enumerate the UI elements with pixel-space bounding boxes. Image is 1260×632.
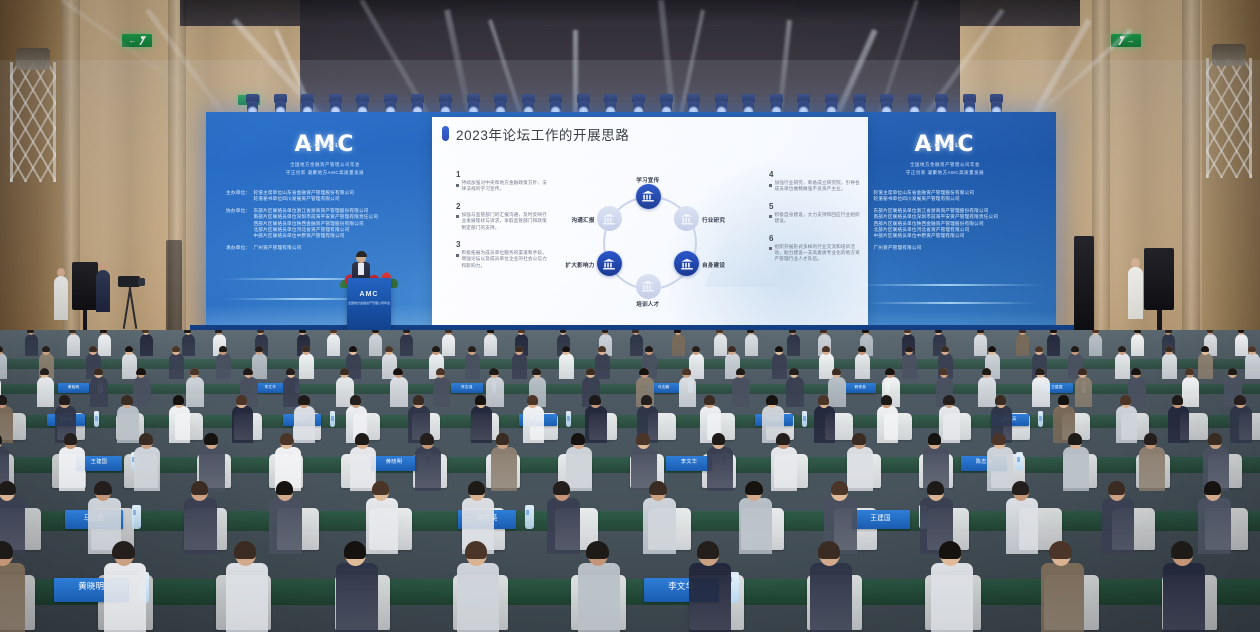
person-hair (586, 541, 608, 559)
person-hair (641, 395, 652, 404)
person-hair (927, 481, 944, 495)
camera-rig (110, 270, 150, 332)
person-hair (674, 330, 681, 333)
audience-member (745, 330, 758, 358)
person-hair (1019, 330, 1026, 333)
banner-headline-1: 全国地方金融资产管理公司年会 (212, 162, 438, 168)
person-body (269, 498, 302, 553)
audience-member (457, 542, 499, 632)
exit-arrow-icon: ← (129, 37, 137, 45)
person-body (1245, 353, 1260, 379)
person-hair (236, 395, 247, 404)
person-hair (881, 395, 892, 404)
audience-member (336, 542, 378, 632)
name-placard: 李文华 (255, 383, 286, 393)
audience-member (1006, 482, 1039, 558)
audience-member (37, 368, 55, 409)
water-bottle (802, 411, 808, 427)
person-hair (403, 330, 410, 333)
bullet-item: 加强与监管部门的汇报沟通，及时反映行业发展现状与诉求，争取监管部门和政策制定部门… (456, 212, 548, 231)
audience-member (216, 346, 231, 381)
audience-member (771, 434, 797, 494)
person-hair (775, 346, 783, 352)
person-hair (995, 395, 1006, 404)
audience-member (679, 368, 697, 409)
person-hair (1171, 541, 1193, 559)
person-body (1198, 353, 1213, 379)
credit-values: 广州资产管理有限公司 (873, 245, 921, 251)
person-hair (1228, 368, 1237, 376)
audience-member (491, 434, 517, 494)
audience-member (226, 542, 268, 632)
person-hair (1050, 330, 1057, 333)
credit-values: 东部片区联络员单位浙江省浙商资产管理股份有限公司南部片区联络员单位深圳市前海平安… (253, 208, 378, 240)
water-bottle (1016, 452, 1023, 471)
bullet-marker-icon (456, 254, 459, 257)
person-hair (818, 395, 829, 404)
person-hair (1049, 541, 1071, 559)
person-hair (0, 541, 13, 559)
person-body (491, 447, 517, 491)
person-hair (1165, 346, 1173, 352)
cycle-node-label: 扩大影响力 (566, 261, 595, 269)
audience-member (1089, 330, 1102, 358)
person-body (523, 406, 544, 442)
person-hair (219, 346, 227, 352)
slide-title: 2023年论坛工作的开展思路 (456, 124, 629, 144)
audience-member (0, 346, 7, 381)
person-hair (1035, 346, 1043, 352)
slide-bullets-right: 4加强行业研究，筹备成立研究院，引导各成员单位做精做强不良资产主业。5积极自身建… (769, 170, 861, 272)
credit-block: 主办单位：轮值主席单位山东省金融资产管理股份有限公司轮值秘书单位四川发展资产管理… (846, 190, 1044, 203)
person-body (67, 334, 80, 356)
audience-member (471, 396, 492, 445)
person-hair (831, 481, 848, 495)
person-hair (885, 368, 894, 376)
audience-member (855, 346, 870, 381)
podium-logo: AMC (360, 291, 379, 298)
person-body (771, 447, 797, 491)
audience-member (140, 330, 153, 358)
person-hair (704, 395, 715, 404)
exit-sign-left: ← (122, 34, 152, 47)
person-body (134, 447, 160, 491)
person-hair (191, 481, 208, 495)
name-placard: 黄晓明 (58, 383, 89, 393)
audience-member (25, 330, 38, 358)
speaker-hair (356, 251, 367, 257)
bullet-number: 3 (456, 240, 548, 249)
person-hair (298, 395, 309, 404)
exit-sign-right: → (1111, 34, 1141, 47)
bullet-marker-icon (769, 247, 772, 250)
name-placard-text: 王建国 (852, 512, 910, 522)
person-body (471, 406, 492, 442)
person-body (1102, 498, 1135, 553)
person-body (169, 353, 184, 379)
person-hair (349, 346, 357, 352)
person-hair (1134, 330, 1141, 333)
audience-member (442, 330, 455, 358)
audience-member (1162, 346, 1177, 381)
person-hair (789, 330, 796, 333)
audience-member (810, 542, 852, 632)
bullet-item: 积极拓展为成员单位服务的渠道和手段，增强论坛以及成员单位企业的社会公信力和影响力… (456, 250, 548, 269)
audience-member (1116, 396, 1137, 445)
name-placard: 黄晓明 (371, 456, 417, 471)
cycle-node-4 (636, 274, 661, 299)
person-body (855, 353, 870, 379)
person-hair (745, 481, 762, 495)
water-bottle (525, 505, 534, 529)
audience-member (169, 346, 184, 381)
person-body (810, 563, 852, 632)
person-hair (982, 368, 991, 376)
person-hair (340, 368, 349, 376)
audience-member (327, 330, 340, 358)
lighting-truss-left (10, 62, 56, 182)
person-hair (518, 330, 525, 333)
person-hair (1201, 346, 1209, 352)
cycle-node-label: 自身建设 (702, 261, 725, 269)
person-hair (42, 346, 50, 352)
credit-value: 中部片区联络员单位中原资产管理有限公司 (873, 233, 998, 239)
person-body (1006, 498, 1039, 553)
person-hair (204, 433, 218, 444)
banner-credits-left: 主办单位：轮值主席单位山东省金融资产管理股份有限公司轮值秘书单位四川发展资产管理… (212, 190, 438, 251)
bullet-number: 2 (456, 202, 548, 211)
person-body (400, 334, 413, 356)
audience-member (1245, 346, 1260, 381)
person-hair (142, 330, 149, 333)
audience-member (931, 542, 973, 632)
person-hair (257, 330, 264, 333)
slide-bullets-left: 1持续加强对中央和地方金融政策方针、法律法规的学习宣传。2加强与监管部门的汇报沟… (456, 170, 548, 278)
person-hair (59, 395, 70, 404)
credit-value: 中部片区联络员单位中原资产管理有限公司 (253, 233, 378, 239)
person-hair (697, 541, 719, 559)
person-hair (682, 368, 691, 376)
audience-member (672, 330, 685, 358)
banner-left: AMC LOCAL 全国地方金融资产管理公司年会 守正创新 凝聚地方AMC高质量… (212, 118, 438, 334)
person-hair (173, 395, 184, 404)
audience-member (689, 542, 731, 632)
bullet-number: 1 (456, 170, 548, 179)
bullet-text: 积极自身建设，大力支持和回应行业组织建设。 (775, 212, 862, 225)
person-hair (589, 395, 600, 404)
credit-values: 广州资产管理有限公司 (253, 245, 301, 251)
bullet-text: 组织开展形式多样的行业交流和培训活动，助力建设一支高素质专业化的地方资产管理行业… (775, 244, 862, 263)
person-hair (121, 395, 132, 404)
audience-member (390, 368, 408, 409)
person-hair (100, 330, 107, 333)
person-hair (560, 330, 567, 333)
person-hair (234, 541, 256, 559)
running-person-icon (1118, 36, 1125, 45)
audience-member (90, 368, 108, 409)
person-hair (184, 330, 191, 333)
person-hair (928, 433, 942, 444)
podium: AMC 全国地方金融资产管理公司年会 (347, 278, 391, 330)
person-hair (862, 330, 869, 333)
person-body (442, 334, 455, 356)
cycle-node-5 (597, 251, 622, 276)
person-body (457, 563, 499, 632)
person-hair (1035, 368, 1044, 376)
person-hair (598, 346, 606, 352)
lighting-truss-right (1206, 58, 1252, 178)
audience-member (369, 330, 382, 358)
audience-member (787, 330, 800, 358)
audience-member (814, 396, 835, 445)
person-body (672, 334, 685, 356)
person-body (1041, 563, 1083, 632)
person-body (232, 406, 253, 442)
bullet-item: 加强行业研究，筹备成立研究院，引导各成员单位做精做强不良资产主业。 (769, 180, 861, 193)
credit-block: 承办单位：广州资产管理有限公司 (846, 245, 1044, 251)
water-bottle (1038, 411, 1044, 427)
audience-member (67, 330, 80, 358)
person-body (931, 563, 973, 632)
audience-member (1230, 396, 1251, 445)
person-body (679, 377, 697, 407)
person-body (327, 334, 340, 356)
audience-member (707, 434, 733, 494)
person-hair (1071, 346, 1079, 352)
audience-member (465, 346, 480, 381)
person-hair (190, 368, 199, 376)
cycle-node-2 (674, 206, 699, 231)
person-hair (1208, 433, 1222, 444)
person-body (299, 353, 314, 379)
person-body (732, 377, 750, 407)
credit-value: 广州资产管理有限公司 (873, 245, 921, 251)
audience-member (772, 346, 787, 381)
exit-arrow-icon: → (1127, 37, 1135, 45)
person-hair (988, 346, 996, 352)
person-hair (413, 395, 424, 404)
person-body (336, 563, 378, 632)
credit-values: 轮值主席单位山东省金融资产管理股份有限公司轮值秘书单位四川发展资产管理有限公司 (253, 190, 354, 203)
person-body (512, 353, 527, 379)
water-bottle (132, 505, 141, 529)
person-hair (747, 330, 754, 333)
stage-drape-right (1074, 236, 1094, 332)
person-hair (941, 346, 949, 352)
credit-values: 东部片区联络员单位浙江省浙商资产管理股份有限公司南部片区联络员单位深圳市前海平安… (873, 208, 998, 240)
audience-member (1041, 542, 1083, 632)
person-body (1230, 406, 1251, 442)
person-body (216, 353, 231, 379)
camera-lens (138, 278, 145, 286)
person-hair (445, 330, 452, 333)
person-hair (286, 368, 295, 376)
person-hair (904, 330, 911, 333)
name-placard: 陈志强 (451, 383, 482, 393)
person-hair (280, 433, 294, 444)
bullet-marker-icon (456, 184, 459, 187)
bank-institution-icon (602, 212, 616, 226)
person-hair (1131, 368, 1140, 376)
person-body (745, 334, 758, 356)
bullet-marker-icon (769, 215, 772, 218)
audience-member (269, 482, 302, 558)
bullet-item: 持续加强对中央和地方金融政策方针、法律法规的学习宣传。 (456, 180, 548, 193)
cycle-diagram: 学习宣传行业研究自身建设培训人才扩大影响力沟通汇报 (582, 175, 714, 307)
person-hair (649, 481, 666, 495)
speaker-shirt (358, 263, 364, 275)
cycle-node-1 (636, 184, 661, 209)
bullet-item: 组织开展形式多样的行业交流和培训活动，助力建设一支高素质专业化的地方资产管理行业… (769, 244, 861, 263)
person-hair (586, 368, 595, 376)
audience-member (184, 482, 217, 558)
podium-subtitle: 全国地方金融资产管理公司年会 (348, 301, 390, 305)
person-hair (832, 368, 841, 376)
person-hair (40, 368, 49, 376)
amc-local-text: LOCAL (929, 143, 962, 149)
person-body (1131, 334, 1144, 356)
person-hair (1108, 481, 1125, 495)
audience-member (1139, 434, 1165, 494)
audience-member (512, 346, 527, 381)
cycle-node-label: 行业研究 (702, 216, 725, 224)
audience-member (643, 482, 676, 558)
person-hair (571, 433, 585, 444)
audience-member (739, 482, 772, 558)
water-bottle (330, 411, 336, 427)
person-hair (255, 346, 263, 352)
person-body (786, 377, 804, 407)
person-hair (393, 368, 402, 376)
credit-block: 承办单位：广州资产管理有限公司 (226, 245, 424, 251)
person-body (1168, 406, 1189, 442)
person-hair (468, 481, 485, 495)
person-hair (355, 433, 369, 444)
person-hair (692, 346, 700, 352)
person-body (369, 334, 382, 356)
credit-block: 协办单位：东部片区联络员单位浙江省浙商资产管理股份有限公司南部片区联络员单位深圳… (226, 208, 424, 240)
person-hair (125, 346, 133, 352)
pa-speaker-right (1144, 248, 1174, 310)
person-hair (645, 346, 653, 352)
person-body (140, 334, 153, 356)
person-hair (1144, 433, 1158, 444)
wall-column (1092, 0, 1110, 335)
person-body (1128, 267, 1143, 319)
person-hair (943, 395, 954, 404)
person-body (226, 563, 268, 632)
person-hair (818, 541, 840, 559)
person-hair (1092, 330, 1099, 333)
credit-key: 协办单位： (226, 208, 250, 240)
bank-institution-icon (641, 189, 655, 203)
person-hair (766, 395, 777, 404)
person-hair (475, 395, 486, 404)
cycle-node-label: 沟通汇报 (571, 216, 594, 224)
cycle-node-label: 学习宣传 (636, 176, 659, 184)
person-hair (215, 330, 222, 333)
person-hair (728, 346, 736, 352)
audience-member (902, 346, 917, 381)
person-hair (420, 433, 434, 444)
bullet-item: 积极自身建设，大力支持和回应行业组织建设。 (769, 212, 861, 225)
running-person-icon (139, 36, 146, 45)
person-hair (1078, 368, 1087, 376)
person-hair (939, 368, 948, 376)
person-body (1016, 334, 1029, 356)
audience-member (1047, 330, 1060, 358)
audience-member (559, 346, 574, 381)
person-hair (385, 346, 393, 352)
person-hair (1118, 346, 1126, 352)
audience-member (786, 368, 804, 409)
audience-member (433, 368, 451, 409)
person-hair (905, 346, 913, 352)
audience-member (59, 434, 85, 494)
slide-title-accent (442, 126, 449, 141)
bullet-text: 加强行业研究，筹备成立研究院，引导各成员单位做精做强不良资产主业。 (775, 180, 862, 193)
person-hair (372, 481, 389, 495)
audience-member (1131, 330, 1144, 358)
credit-block: 协办单位：东部片区联络员单位浙江省浙商资产管理股份有限公司南部片区联络员单位深圳… (846, 208, 1044, 240)
bullet-number: 4 (769, 170, 861, 179)
audience-member (547, 482, 580, 558)
audience-member (1102, 482, 1135, 558)
audience-member (1032, 368, 1050, 409)
person-hair (302, 346, 310, 352)
truss-fixture-left (16, 48, 50, 70)
conference-hall-photo: ← → AMC LOCAL 全国地方金融资产管理公司年会 守正创新 凝聚地方AM… (0, 0, 1260, 632)
wall-column (1182, 0, 1200, 335)
presentation-slide: 2023年论坛工作的开展思路 1持续加强对中央和地方金融政策方针、法律法规的学习… (432, 117, 868, 330)
person-hair (632, 330, 639, 333)
person-body (90, 377, 108, 407)
person-hair (527, 395, 538, 404)
name-placard-text: 李文华 (666, 458, 712, 465)
person-hair (27, 330, 34, 333)
person-hair (935, 330, 942, 333)
credit-block: 主办单位：轮值主席单位山东省金融资产管理股份有限公司轮值秘书单位四川发展资产管理… (226, 190, 424, 203)
person-hair (636, 433, 650, 444)
name-placard-text: 陈志强 (451, 385, 482, 390)
person-body (787, 334, 800, 356)
person-hair (1248, 346, 1256, 352)
person-body (1089, 334, 1102, 356)
ceiling-slab (180, 0, 1080, 26)
person-hair (139, 433, 153, 444)
person-hair (820, 330, 827, 333)
person-body (169, 406, 190, 442)
person-hair (1058, 395, 1069, 404)
banner-headline-2: 守正创新 凝聚地方AMC高质量发展 (212, 170, 438, 176)
credit-values: 轮值主席单位山东省金融资产管理股份有限公司轮值秘书单位四川发展资产管理有限公司 (873, 190, 974, 203)
person-body (1162, 353, 1177, 379)
person-hair (562, 346, 570, 352)
person-hair (94, 481, 111, 495)
person-hair (1207, 330, 1214, 333)
name-placard: 王建国 (852, 510, 910, 529)
person-body (772, 353, 787, 379)
bullet-text: 加强与监管部门的汇报沟通，及时反映行业发展现状与诉求，争取监管部门和政策制定部门… (462, 212, 549, 231)
camera-body (118, 276, 140, 287)
bank-institution-icon (680, 212, 694, 226)
person-hair (487, 330, 494, 333)
person-hair (69, 330, 76, 333)
credit-key: 主办单位： (226, 190, 250, 203)
person-hair (822, 346, 830, 352)
person-hair (553, 481, 570, 495)
person-hair (89, 346, 97, 352)
